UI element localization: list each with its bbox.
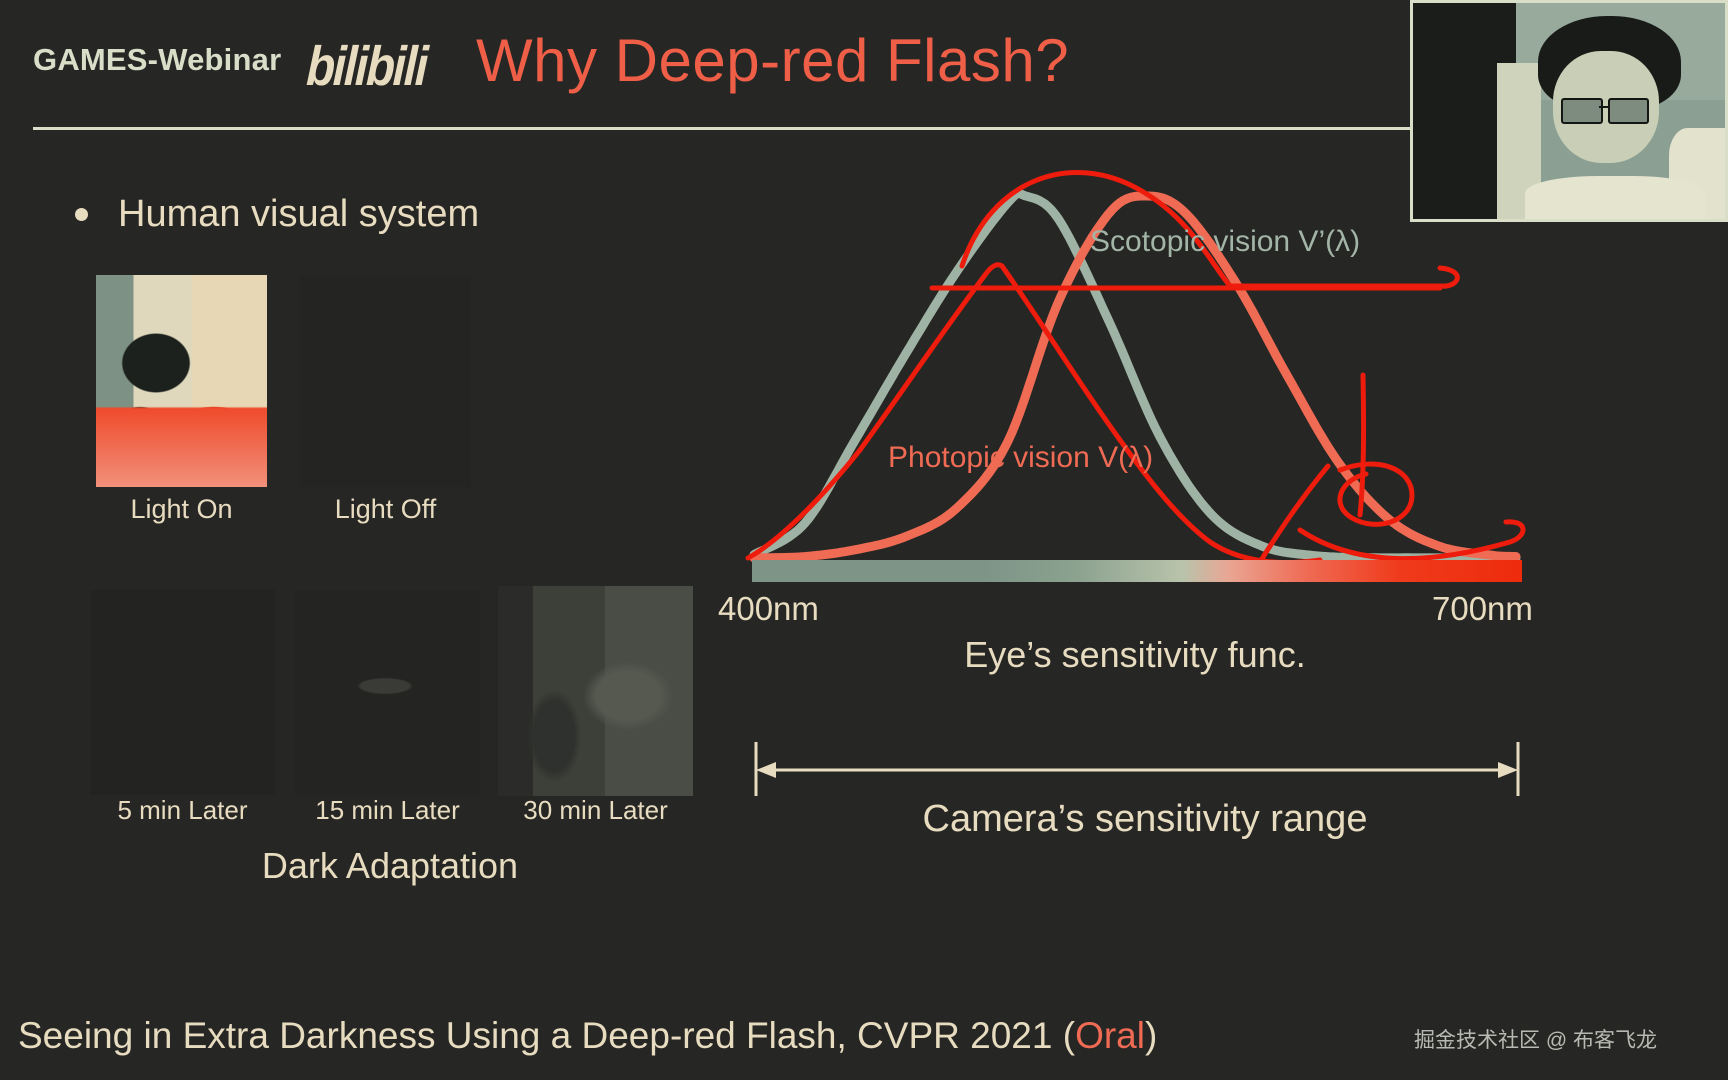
camera-range-arrow-svg — [752, 740, 1522, 800]
caption-30min-later: 30 min Later — [498, 795, 693, 826]
watermark: 掘金技术社区 @ 布客飞龙 — [1414, 1024, 1657, 1054]
bilibili-logo: bilibili — [305, 33, 428, 98]
camera-range-arrow — [752, 740, 1522, 800]
deep-red-region-tail — [1260, 466, 1328, 562]
arrow-head-right-icon — [1498, 762, 1518, 778]
bullet-label: Human visual system — [118, 193, 479, 236]
legend-scotopic-vision: Scotopic vision V’(λ) — [1090, 225, 1360, 259]
dark-adaptation-photo-5min — [90, 590, 275, 795]
bullet-human-visual-system: Human visual system — [75, 193, 479, 236]
caption-light-off: Light Off — [300, 494, 471, 525]
paper-citation: Seeing in Extra Darkness Using a Deep-re… — [18, 1015, 1157, 1057]
axis-tick-700nm: 700nm — [1432, 590, 1533, 628]
photopic-peak-scribble — [748, 265, 1320, 563]
caption-eye-sensitivity: Eye’s sensitivity func. — [750, 634, 1520, 676]
webcam-glasses-right-icon — [1608, 98, 1649, 124]
visible-spectrum-bar — [752, 560, 1522, 582]
caption-dark-adaptation: Dark Adaptation — [90, 845, 690, 887]
light-off-room-photo — [300, 275, 471, 487]
caption-15min-later: 15 min Later — [295, 795, 480, 826]
light-on-room-photo — [96, 275, 267, 487]
webcam-glasses-left-icon — [1561, 98, 1602, 124]
citation-tail: ) — [1145, 1015, 1157, 1056]
page-title: Why Deep-red Flash? — [476, 26, 1069, 95]
deep-red-region-circle — [1360, 375, 1364, 515]
webcam-glasses-bridge-icon — [1599, 106, 1610, 109]
bullet-dot-icon — [75, 208, 88, 221]
citation-main: Seeing in Extra Darkness Using a Deep-re… — [18, 1015, 1075, 1056]
dark-adaptation-photo-30min — [498, 586, 693, 796]
webcam-shirt — [1525, 176, 1706, 219]
presenter-webcam-feed[interactable] — [1410, 0, 1728, 222]
presentation-slide: GAMES-Webinar bilibili Why Deep-red Flas… — [0, 0, 1728, 1080]
caption-light-on: Light On — [96, 494, 267, 525]
citation-oral-badge: Oral — [1075, 1015, 1145, 1056]
legend-photopic-vision: Photopic vision V(λ) — [888, 441, 1153, 475]
caption-camera-sensitivity-range: Camera’s sensitivity range — [750, 798, 1540, 841]
caption-5min-later: 5 min Later — [90, 795, 275, 826]
games-webinar-brand: GAMES-Webinar — [33, 42, 281, 78]
dark-adaptation-photo-15min — [295, 590, 480, 795]
arrow-head-left-icon — [756, 762, 776, 778]
axis-tick-400nm: 400nm — [718, 590, 819, 628]
